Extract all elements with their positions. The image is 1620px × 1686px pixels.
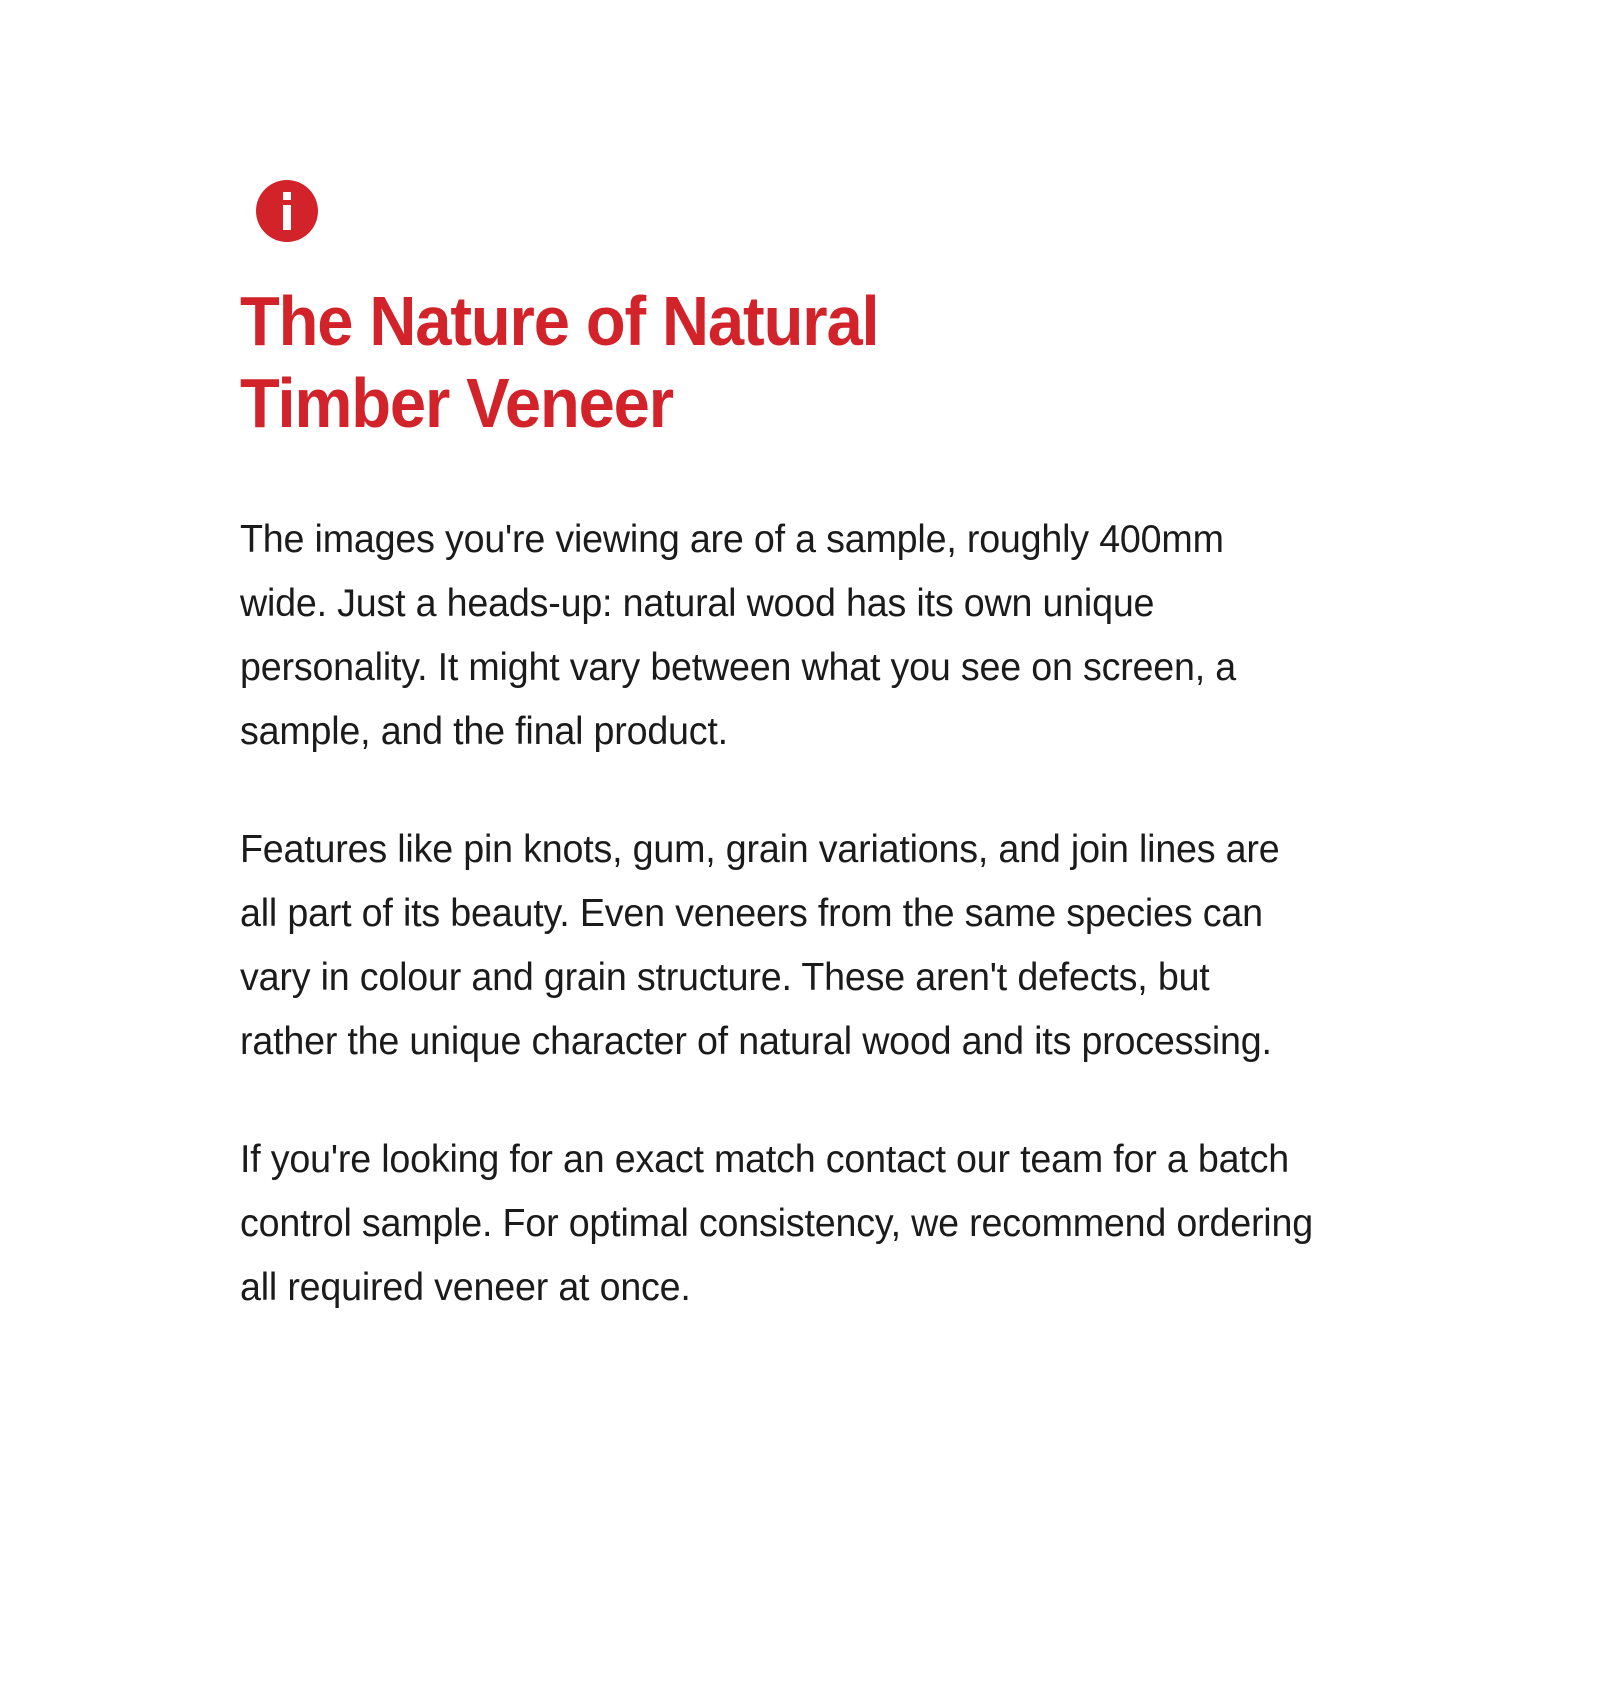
page-title: The Nature of Natural Timber Veneer [240, 280, 1077, 444]
paragraph-exact-match: If you're looking for an exact match con… [240, 1128, 1316, 1320]
info-icon-glyph [274, 192, 300, 230]
info-icon [256, 180, 318, 242]
body-copy: The images you're viewing are of a sampl… [240, 508, 1355, 1320]
info-panel: The Nature of Natural Timber Veneer The … [0, 0, 1620, 1686]
paragraph-sample-size: The images you're viewing are of a sampl… [240, 508, 1316, 764]
paragraph-natural-features: Features like pin knots, gum, grain vari… [240, 818, 1316, 1074]
